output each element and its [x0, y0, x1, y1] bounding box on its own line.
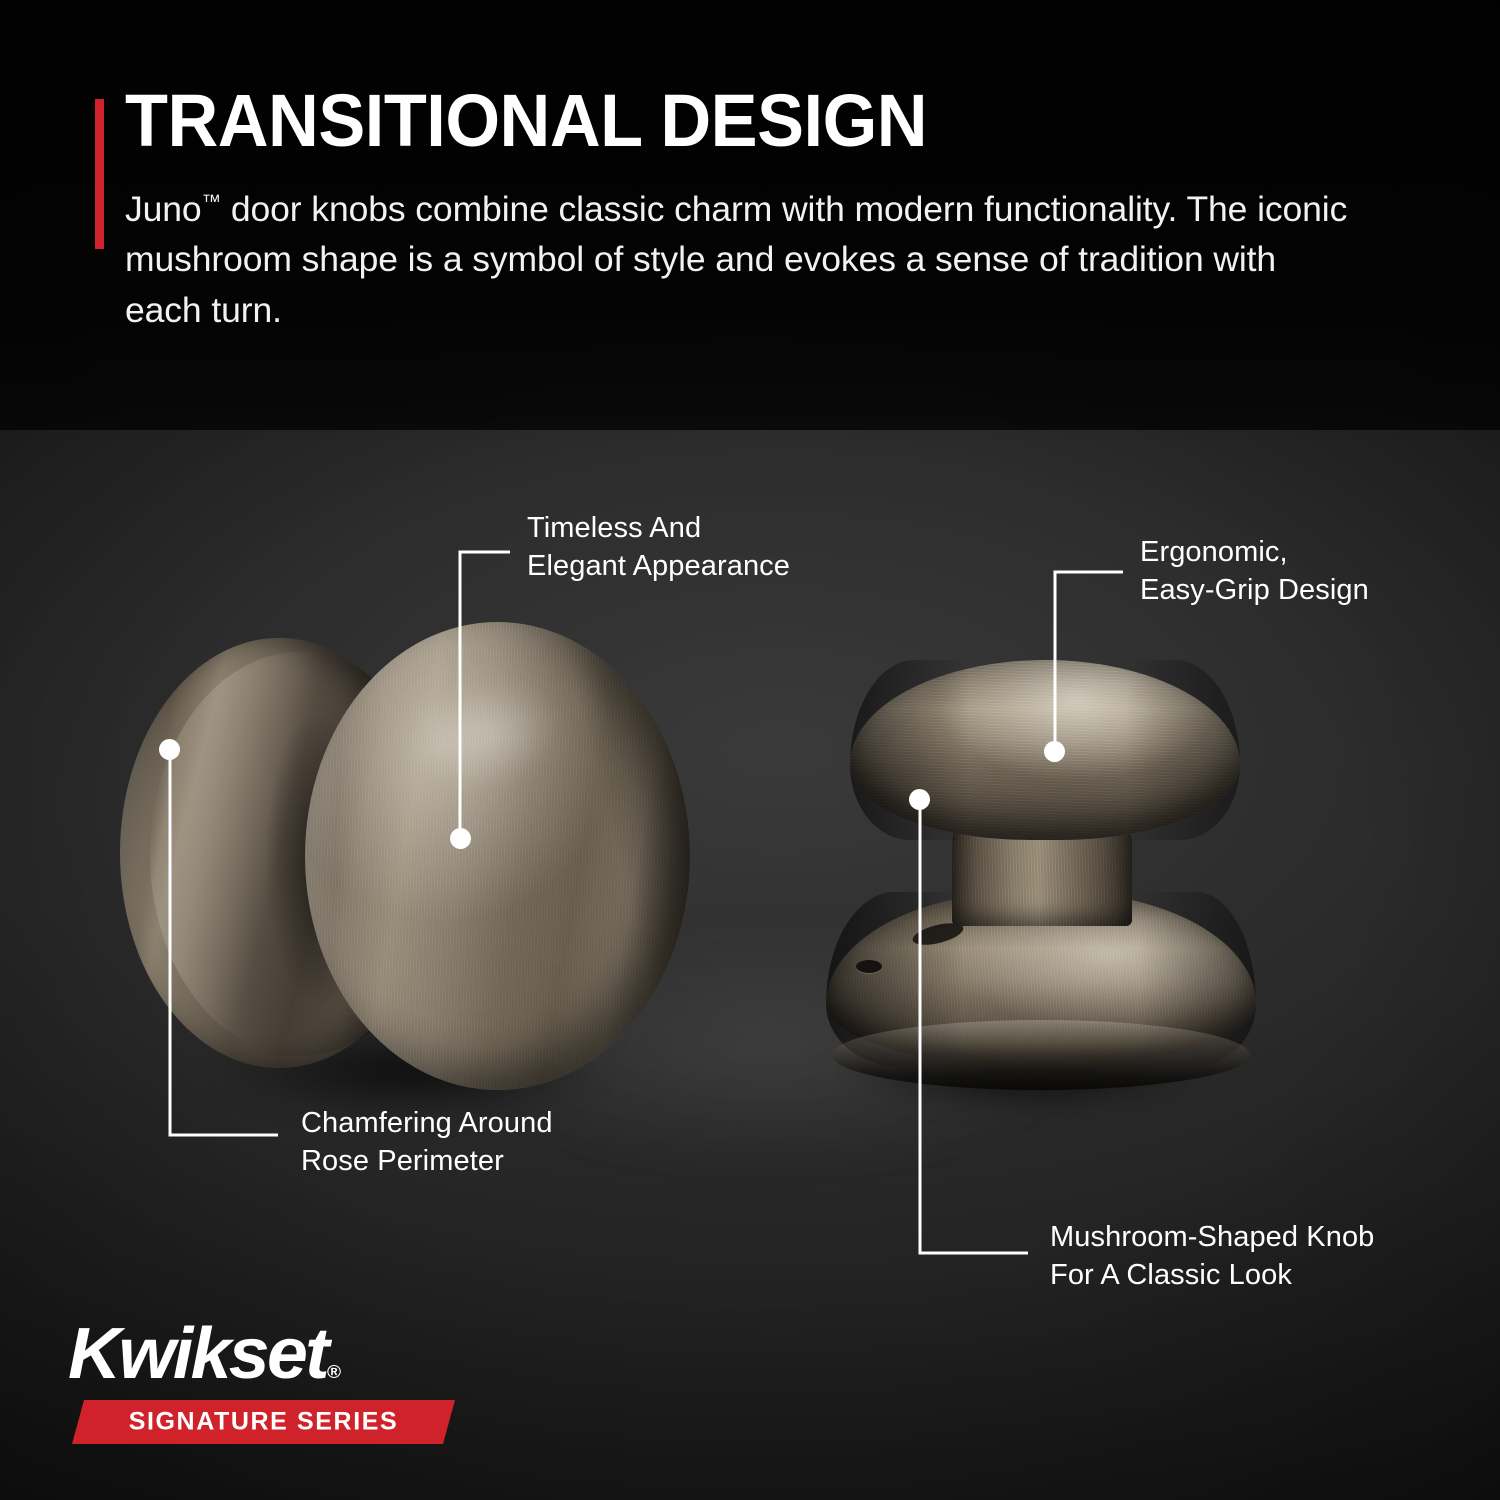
callout-leader-mushroom — [910, 795, 1035, 1265]
product-feature-image: TRANSITIONAL DESIGN Juno™ door knobs com… — [0, 0, 1500, 1500]
door-knob-profile-view — [760, 630, 1320, 1130]
trademark-symbol: ™ — [202, 191, 222, 213]
signature-series-banner: SIGNATURE SERIES — [72, 1400, 455, 1444]
product-name: Juno — [125, 189, 202, 229]
callout-label-timeless: Timeless And Elegant Appearance — [527, 509, 790, 586]
brand-lockup: Kwikset® SIGNATURE SERIES — [68, 1318, 488, 1443]
kwikset-logo: Kwikset® — [68, 1318, 341, 1390]
callout-leader-ergonomic — [1045, 562, 1135, 762]
signature-series-label: SIGNATURE SERIES — [129, 1408, 399, 1437]
callout-dot-chamfering — [159, 739, 180, 760]
registered-trademark-icon: ® — [327, 1361, 341, 1382]
kwikset-wordmark: Kwikset — [68, 1314, 327, 1394]
header-description-text: door knobs combine classic charm with mo… — [125, 189, 1347, 330]
callout-dot-mushroom — [909, 789, 930, 810]
header-description: Juno™ door knobs combine classic charm w… — [125, 184, 1355, 335]
callout-leader-chamfering — [160, 745, 285, 1145]
callout-leader-timeless — [450, 540, 530, 850]
door-knob-front-view — [0, 560, 760, 1120]
knob-profile-base-lip — [832, 1020, 1250, 1090]
callout-dot-ergonomic — [1044, 741, 1065, 762]
header-accent-bar — [95, 99, 104, 249]
callout-label-ergonomic: Ergonomic, Easy-Grip Design — [1140, 533, 1369, 610]
knob-profile-screw-hole — [856, 960, 882, 973]
page-title: TRANSITIONAL DESIGN — [125, 84, 927, 158]
callout-label-chamfering: Chamfering Around Rose Perimeter — [301, 1104, 553, 1181]
callout-dot-timeless — [450, 828, 471, 849]
callout-label-mushroom: Mushroom-Shaped Knob For A Classic Look — [1050, 1218, 1374, 1295]
